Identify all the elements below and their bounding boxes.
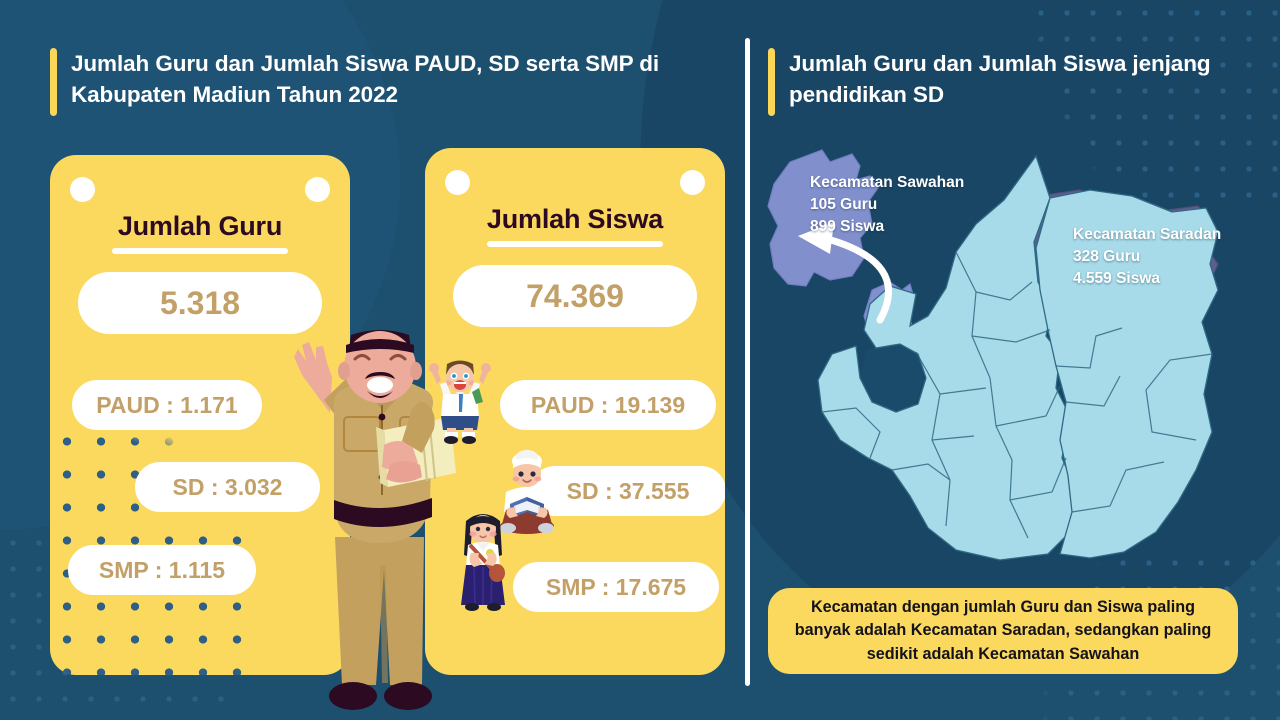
card-total-value: 74.369	[453, 265, 697, 327]
card-punch-hole-right	[680, 170, 705, 195]
card-punch-hole-right	[305, 177, 330, 202]
annotation-teachers: 105 Guru	[810, 194, 964, 216]
annotation-district-name: Kecamatan Saradan	[1073, 224, 1221, 246]
map-annotation-sawahan: Kecamatan Sawahan 105 Guru 899 Siswa	[810, 172, 964, 238]
card-title-rule	[487, 241, 663, 247]
map-annotation-saradan: Kecamatan Saradan 328 Guru 4.559 Siswa	[1073, 224, 1221, 290]
breakdown-pill-paud: PAUD : 19.139	[500, 380, 716, 430]
annotation-district-name: Kecamatan Sawahan	[810, 172, 964, 194]
annotation-students: 4.559 Siswa	[1073, 268, 1221, 290]
left-panel-title-text: Jumlah Guru dan Jumlah Siswa PAUD, SD se…	[71, 48, 710, 110]
card-title-rule	[112, 248, 288, 254]
right-panel-title-text: Jumlah Guru dan Jumlah Siswa jenjang pen…	[789, 48, 1238, 110]
panel-divider	[745, 38, 750, 686]
title-accent-bar	[50, 48, 57, 116]
breakdown-pill-smp: SMP : 17.675	[513, 562, 719, 612]
card-punch-hole-left	[445, 170, 470, 195]
annotation-teachers: 328 Guru	[1073, 246, 1221, 268]
annotation-students: 899 Siswa	[810, 216, 964, 238]
map-caption-text: Kecamatan dengan jumlah Guru dan Siswa p…	[784, 596, 1222, 666]
cheering-schoolboy-illustration	[427, 358, 493, 444]
right-panel-title: Jumlah Guru dan Jumlah Siswa jenjang pen…	[768, 48, 1238, 116]
title-accent-bar	[768, 48, 775, 116]
breakdown-pill-smp: SMP : 1.115	[68, 545, 256, 595]
card-title: Jumlah Siswa	[425, 204, 725, 235]
left-panel-title: Jumlah Guru dan Jumlah Siswa PAUD, SD se…	[50, 48, 710, 116]
schoolgirl-illustration	[452, 505, 514, 613]
card-title: Jumlah Guru	[50, 211, 350, 242]
card-punch-hole-left	[70, 177, 95, 202]
breakdown-pill-paud: PAUD : 1.171	[72, 380, 262, 430]
map-caption-box: Kecamatan dengan jumlah Guru dan Siswa p…	[768, 588, 1238, 674]
